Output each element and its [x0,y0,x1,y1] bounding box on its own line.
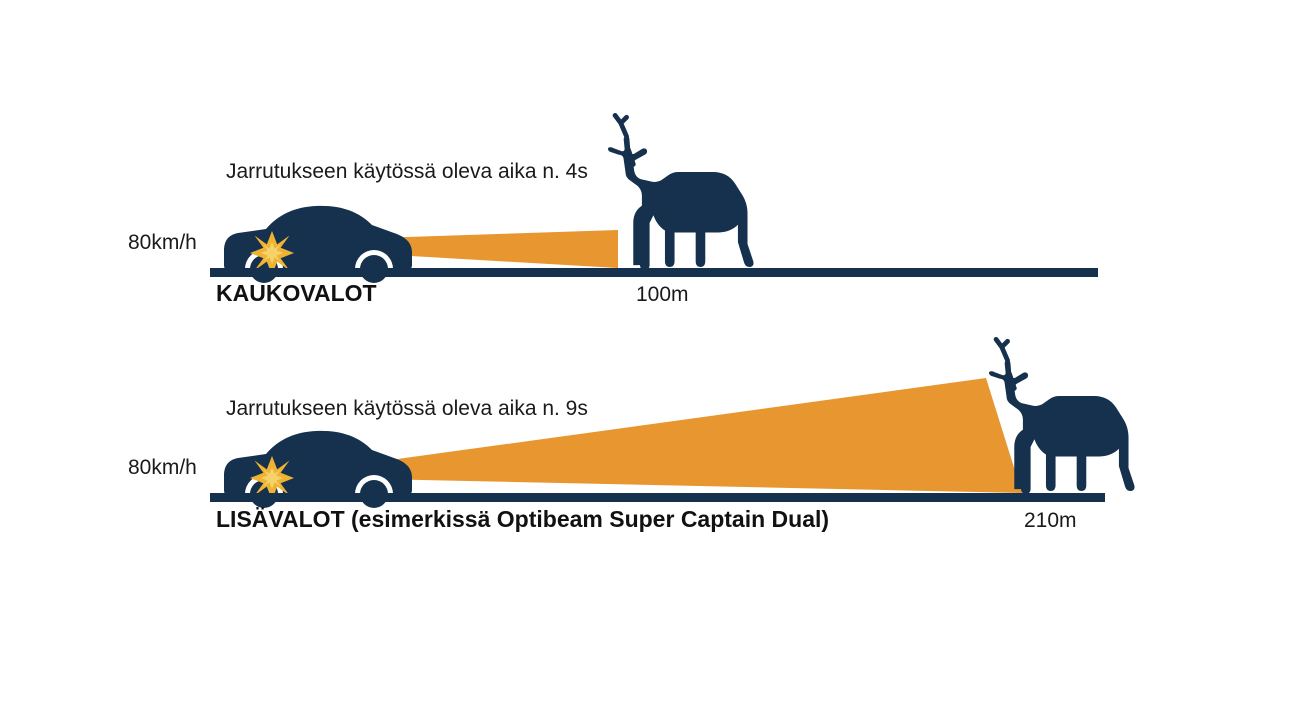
mode-label-2: LISÄVALOT (esimerkissä Optibeam Super Ca… [216,506,829,532]
ground-line-icon-1 [210,268,1098,277]
canvas-background [0,0,1290,711]
speed-label-2: 80km/h [128,456,197,479]
ground-line-icon-2 [210,493,1105,502]
braking-time-note-2: Jarrutukseen käytössä oleva aika n. 9s [226,397,588,420]
braking-time-note-1: Jarrutukseen käytössä oleva aika n. 4s [226,160,588,183]
mode-label-1: KAUKOVALOT [216,280,377,306]
speed-label-1: 80km/h [128,231,197,254]
distance-label-1: 100m [636,283,689,306]
lighting-range-infographic: 80km/h Jarrutukseen käytössä oleva aika … [0,0,1290,711]
distance-label-2: 210m [1024,509,1077,532]
